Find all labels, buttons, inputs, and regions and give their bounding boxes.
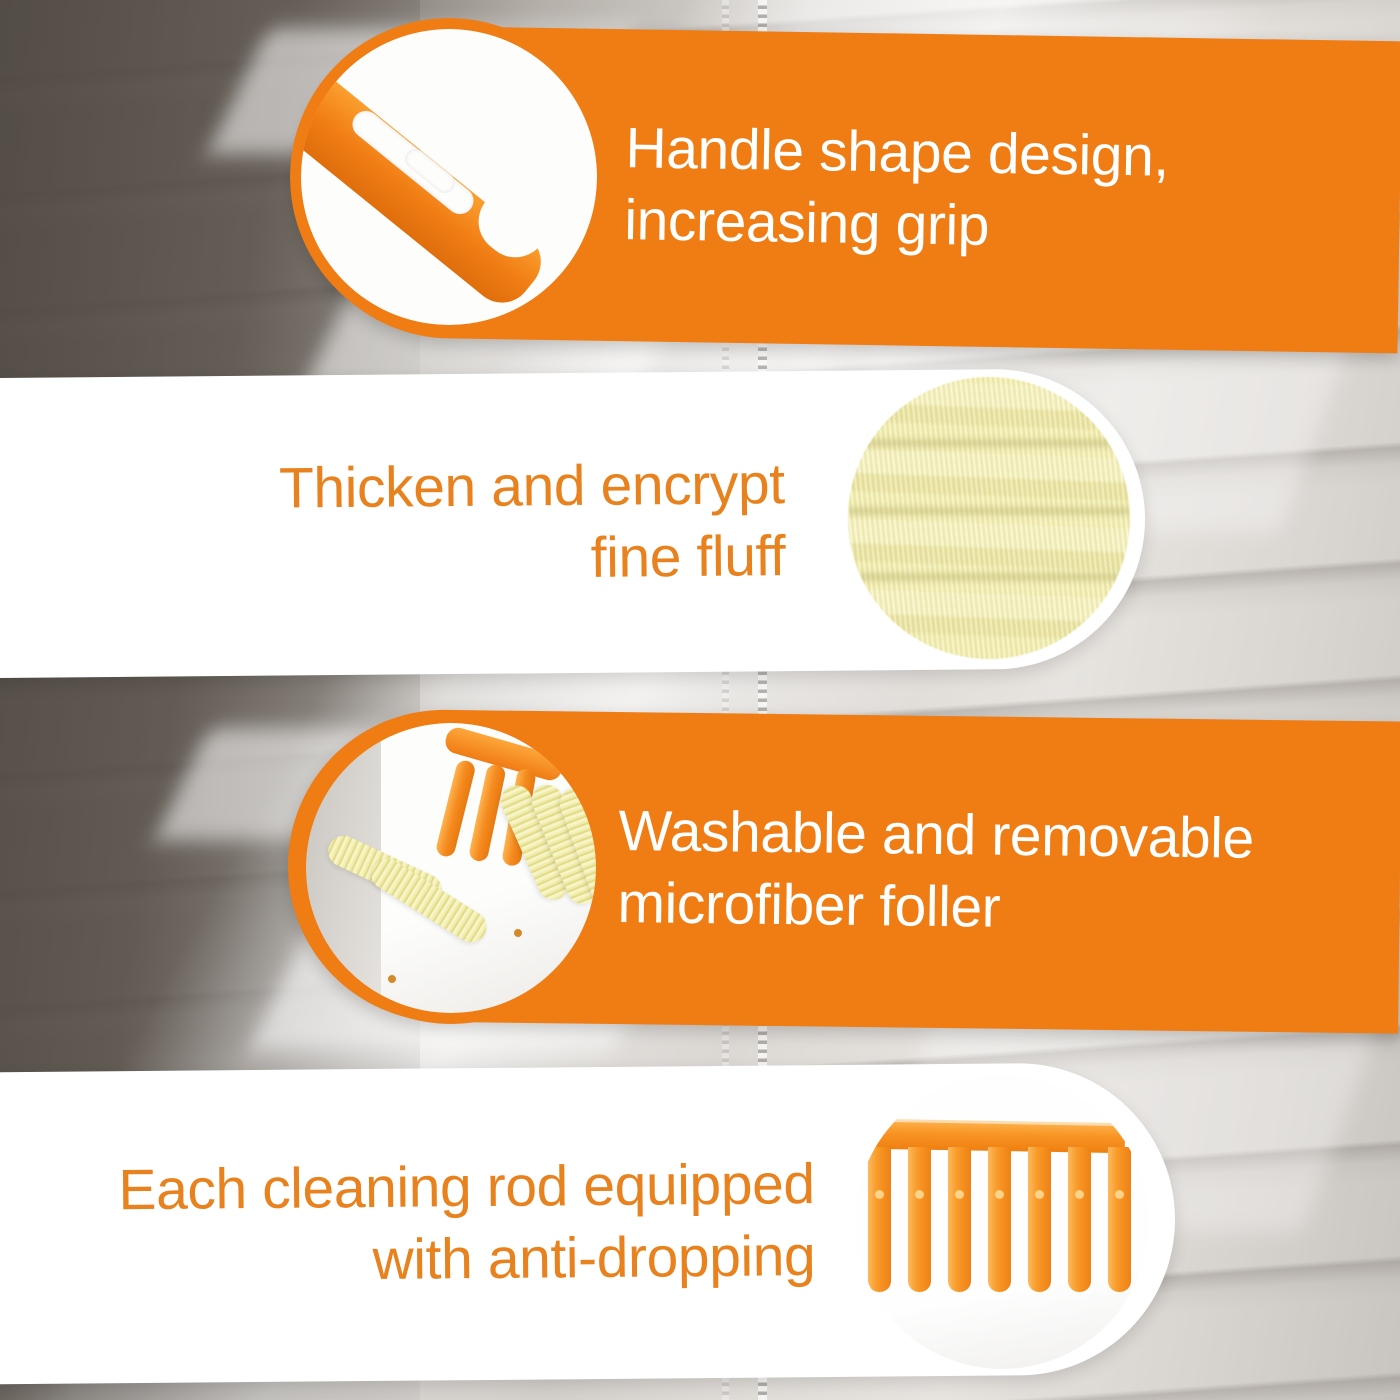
sleeve-end-cap bbox=[514, 929, 522, 937]
callout-photo-2 bbox=[848, 377, 1130, 659]
comb-rod bbox=[1028, 1147, 1051, 1292]
feature-text-1: Handle shape design, increasing grip bbox=[624, 113, 1170, 265]
sleeve-end-cap bbox=[388, 975, 396, 983]
anti-drop-bump bbox=[915, 1190, 924, 1199]
comb-rod bbox=[988, 1147, 1011, 1292]
comb-rod bbox=[1068, 1147, 1091, 1292]
anti-drop-bump bbox=[955, 1190, 964, 1199]
fluff-streak bbox=[848, 439, 1130, 447]
callout-photo-4 bbox=[855, 1075, 1149, 1369]
handle-closeup-callout bbox=[290, 18, 608, 336]
tool-prong bbox=[468, 763, 507, 863]
comb-rod bbox=[868, 1147, 891, 1292]
anti-drop-bump bbox=[1075, 1190, 1084, 1199]
comb-rod bbox=[908, 1147, 931, 1292]
callout-photo-1 bbox=[301, 29, 597, 325]
fluff-streak bbox=[848, 573, 1130, 581]
fluff-macro-callout bbox=[845, 374, 1133, 662]
anti-drop-comb-callout bbox=[852, 1072, 1152, 1372]
microfiber-sleeve bbox=[366, 853, 493, 948]
anti-drop-bump bbox=[1115, 1190, 1124, 1199]
infographic-page: Handle shape design, increasing grip Thi… bbox=[0, 0, 1400, 1400]
feature-text-2: Thicken and encrypt fine fluff bbox=[0, 449, 786, 599]
removable-sleeves-callout bbox=[295, 712, 607, 1024]
comb-rod bbox=[1108, 1147, 1131, 1292]
feature-text-4: Each cleaning rod equipped with anti-dro… bbox=[0, 1149, 816, 1300]
comb-rod bbox=[948, 1147, 971, 1292]
feature-text-3: Washable and removable microfiber foller bbox=[617, 796, 1254, 947]
fluff-texture bbox=[848, 377, 1130, 659]
anti-drop-bump bbox=[1035, 1190, 1044, 1199]
anti-drop-bump bbox=[875, 1190, 884, 1199]
anti-drop-bump bbox=[995, 1190, 1004, 1199]
fluff-streak bbox=[848, 507, 1130, 515]
callout-photo-3 bbox=[306, 723, 596, 1013]
